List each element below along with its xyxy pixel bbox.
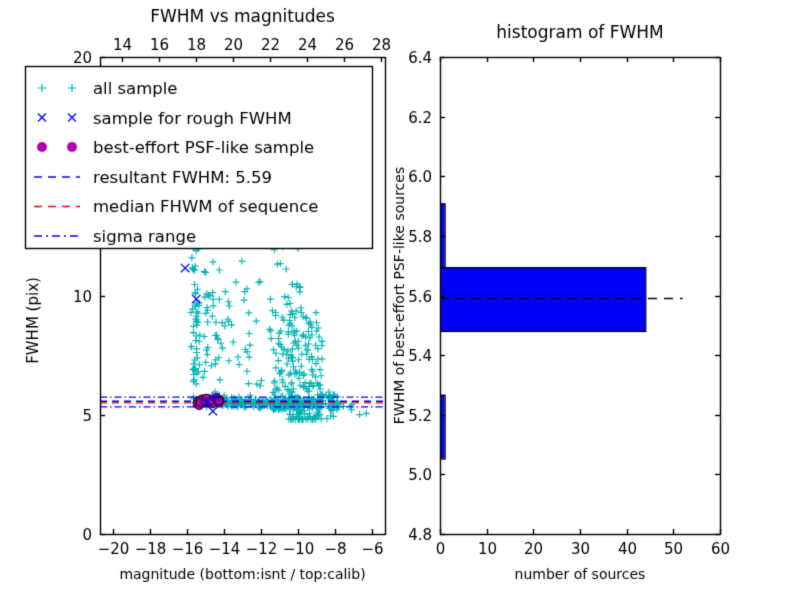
figure-canvas-container: FWHM vs magnitudes magnitude (bottom:isn…: [0, 0, 800, 600]
matplotlib-figure: [0, 0, 800, 600]
